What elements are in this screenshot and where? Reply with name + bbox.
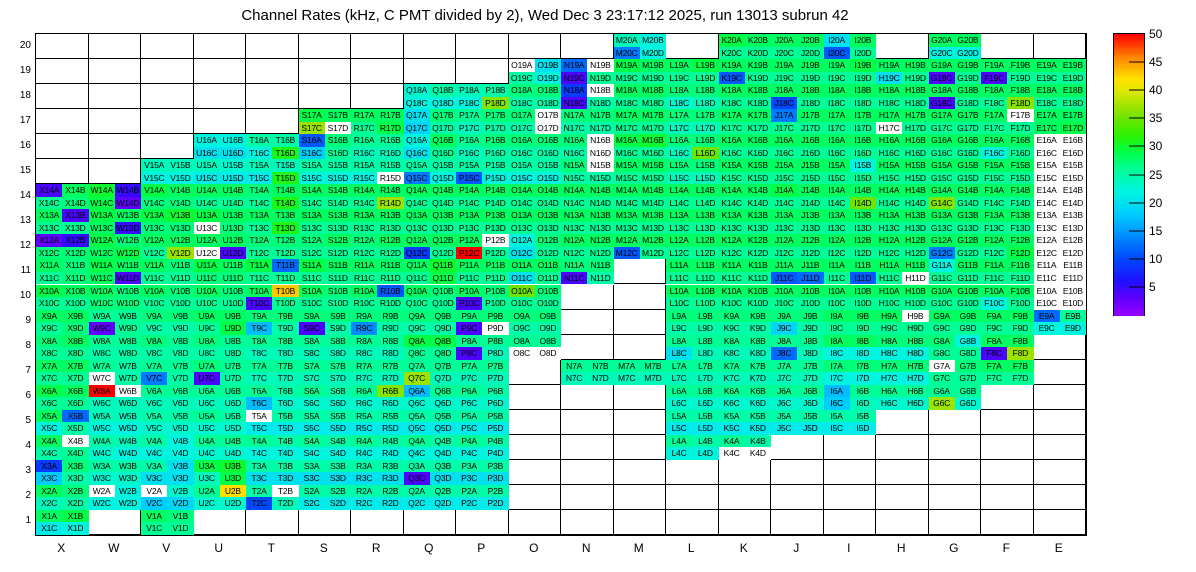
channel-cell: W10C <box>89 297 115 310</box>
channel-cell: O18C <box>509 97 535 110</box>
channel-cell: K13A <box>719 209 745 222</box>
channel-cell: E13A <box>1034 209 1060 222</box>
module-cell: U4AU4BU4CU4D <box>194 435 247 460</box>
channel-cell: N15C <box>561 172 587 185</box>
channel-cell: I17B <box>850 109 876 122</box>
channel-cell: S13C <box>299 222 325 235</box>
channel-cell: W11C <box>89 272 115 285</box>
channel-cell: M12A <box>614 234 640 247</box>
channel-cell: G20B <box>955 34 981 47</box>
module-cell <box>876 435 929 460</box>
module-cell: V9AV9BV9CV9D <box>141 310 194 335</box>
channel-cell: T15C <box>246 172 272 185</box>
channel-cell: G17B <box>955 109 981 122</box>
channel-cell: U16A <box>194 134 220 147</box>
channel-cell: H14A <box>876 184 902 197</box>
channel-cell: J17A <box>771 109 797 122</box>
module-cell: J19AJ19BJ19CJ19D <box>771 59 824 84</box>
y-axis-tick-label: 13 <box>5 215 31 226</box>
channel-cell: X11D <box>62 272 88 285</box>
channel-cell: H12D <box>902 247 928 260</box>
channel-cell: Q15D <box>430 172 456 185</box>
module-cell: P2AP2BP2CP2D <box>456 485 509 510</box>
channel-cell: R8D <box>377 347 403 360</box>
channel-cell: K16D <box>745 147 771 160</box>
module-cell <box>666 485 719 510</box>
channel-cell: R4D <box>377 447 403 460</box>
channel-cell: L5B <box>692 410 718 423</box>
channel-cell: J11B <box>797 259 823 272</box>
channel-cell: T11D <box>272 272 298 285</box>
channel-cell: L17B <box>692 109 718 122</box>
module-cell: X2AX2BX2CX2D <box>36 485 89 510</box>
channel-cell: P16A <box>456 134 482 147</box>
channel-cell: I5A <box>824 410 850 423</box>
channel-cell: F18A <box>981 84 1007 97</box>
channel-cell: U2C <box>194 497 220 510</box>
channel-cell: G15D <box>955 172 981 185</box>
channel-cell: T8B <box>272 335 298 348</box>
channel-cell: R15A <box>351 159 377 172</box>
channel-cell: X12B <box>62 234 88 247</box>
channel-cell: E13C <box>1034 222 1060 235</box>
channel-cell: Q11B <box>430 259 456 272</box>
channel-cell: S8B <box>325 335 351 348</box>
module-cell: J17AJ17BJ17CJ17D <box>771 109 824 134</box>
module-cell: L8AL8BL8CL8D <box>666 335 719 360</box>
channel-cell: E17B <box>1060 109 1086 122</box>
module-cell: H10AH10BH10CH10D <box>876 285 929 310</box>
channel-cell: L19D <box>692 72 718 85</box>
channel-cell: G18A <box>929 84 955 97</box>
channel-cell: K19D <box>745 72 771 85</box>
module-cell: M12AM12BM12CM12D <box>614 234 667 259</box>
channel-cell: J15C <box>771 172 797 185</box>
channel-cell: K8A <box>719 335 745 348</box>
channel-cell: H14B <box>902 184 928 197</box>
colorbar-tick-label: 50 <box>1149 27 1162 41</box>
channel-cell: S16D <box>325 147 351 160</box>
channel-cell: G11C <box>929 272 955 285</box>
channel-cell: G20D <box>955 47 981 60</box>
channel-cell: T15B <box>272 159 298 172</box>
channel-cell: F11C <box>981 272 1007 285</box>
module-cell <box>771 435 824 460</box>
module-cell: W13AW13BW13CW13D <box>89 209 142 234</box>
module-cell: Q14AQ14BQ14CQ14D <box>404 184 457 209</box>
channel-cell: W8C <box>89 347 115 360</box>
channel-cell: Q2B <box>430 485 456 498</box>
channel-cell: M19A <box>614 59 640 72</box>
channel-cell: T12C <box>246 247 272 260</box>
module-cell: X14AX14BX14CX14D <box>36 184 89 209</box>
module-cell <box>561 460 614 485</box>
channel-cell: Q2C <box>404 497 430 510</box>
channel-cell: N14C <box>561 197 587 210</box>
channel-cell: N15D <box>587 172 613 185</box>
channel-cell: J12C <box>771 247 797 260</box>
module-cell <box>929 460 982 485</box>
channel-cell: X7D <box>62 372 88 385</box>
channel-cell: U11B <box>220 259 246 272</box>
module-cell: E17AE17BE17CE17D <box>1034 109 1087 134</box>
module-cell: F8AF8BF8CF8D <box>981 335 1034 360</box>
channel-cell: M18C <box>614 97 640 110</box>
channel-cell: T10A <box>246 285 272 298</box>
module-cell: T15AT15BT15CT15D <box>246 159 299 184</box>
channel-cell: L14C <box>666 197 692 210</box>
channel-cell: S3B <box>325 460 351 473</box>
channel-cell: E12C <box>1034 247 1060 260</box>
channel-cell: S12C <box>299 247 325 260</box>
channel-cell: T7A <box>246 360 272 373</box>
colorbar-tick-mark <box>1129 230 1144 231</box>
channel-cell: R10C <box>351 297 377 310</box>
channel-cell: V13B <box>167 209 193 222</box>
module-cell <box>141 84 194 109</box>
module-cell: E14AE14BE14CE14D <box>1034 184 1087 209</box>
module-cell: T10AT10BT10CT10D <box>246 285 299 310</box>
module-cell: E15AE15BE15CE15D <box>1034 159 1087 184</box>
channel-cell: W14A <box>89 184 115 197</box>
channel-cell: X1D <box>62 522 88 535</box>
channel-cell: J9D <box>797 322 823 335</box>
channel-cell: P7C <box>456 372 482 385</box>
module-cell: L12AL12BL12CL12D <box>666 234 719 259</box>
channel-cell: V1B <box>167 510 193 523</box>
channel-cell: X13B <box>62 209 88 222</box>
channel-cell: O9A <box>509 310 535 323</box>
module-cell: F15AF15BF15CF15D <box>981 159 1034 184</box>
channel-cell: E13D <box>1060 222 1086 235</box>
module-cell: I12AI12BI12CI12D <box>824 234 877 259</box>
channel-cell: K18C <box>719 97 745 110</box>
module-cell: J14AJ14BJ14CJ14D <box>771 184 824 209</box>
channel-cell: K12D <box>745 247 771 260</box>
channel-cell: X14B <box>62 184 88 197</box>
module-cell: G6AG6BG6CG6D <box>929 385 982 410</box>
colorbar-tick-mark <box>1129 118 1144 119</box>
channel-cell: O11B <box>535 259 561 272</box>
channel-cell: E14B <box>1060 184 1086 197</box>
channel-cell: L17A <box>666 109 692 122</box>
channel-cell: W14C <box>89 197 115 210</box>
channel-cell: E11C <box>1034 272 1060 285</box>
channel-cell: L15C <box>666 172 692 185</box>
channel-cell: Q10A <box>404 285 430 298</box>
module-cell <box>824 485 877 510</box>
channel-cell: N14D <box>587 197 613 210</box>
channel-cell: I11C <box>824 272 850 285</box>
channel-cell: N11C <box>561 272 587 285</box>
channel-cell: K17A <box>719 109 745 122</box>
module-cell: I8AI8BI8CI8D <box>824 335 877 360</box>
channel-cell: S9D <box>325 322 351 335</box>
module-cell: K19AK19BK19CK19D <box>719 59 772 84</box>
module-cell: S14AS14BS14CS14D <box>299 184 352 209</box>
channel-cell: J9B <box>797 310 823 323</box>
channel-cell: F18D <box>1007 97 1033 110</box>
channel-cell: O12A <box>509 234 535 247</box>
channel-cell: F17D <box>1007 122 1033 135</box>
channel-cell: F8A <box>981 335 1007 348</box>
channel-cell: O11A <box>509 259 535 272</box>
module-cell: U15AU15BU15CU15D <box>194 159 247 184</box>
channel-cell: T2A <box>246 485 272 498</box>
x-axis-tick-label: E <box>1039 541 1079 555</box>
module-cell: F7AF7BF7CF7D <box>981 360 1034 385</box>
channel-cell: S11B <box>325 259 351 272</box>
x-axis-tick-label: O <box>514 541 554 555</box>
module-cell <box>404 510 457 535</box>
channel-cell: V11D <box>167 272 193 285</box>
module-cell <box>36 59 89 84</box>
channel-cell: E17C <box>1034 122 1060 135</box>
channel-cell: Q18C <box>404 97 430 110</box>
channel-cell: P9D <box>482 322 508 335</box>
channel-cell: S3A <box>299 460 325 473</box>
module-cell: T14AT14BT14CT14D <box>246 184 299 209</box>
channel-cell: W5C <box>89 422 115 435</box>
channel-cell: W13A <box>89 209 115 222</box>
channel-cell: K17C <box>719 122 745 135</box>
channel-cell: K19C <box>719 72 745 85</box>
channel-cell: I15C <box>824 172 850 185</box>
x-axis-tick-label: U <box>199 541 239 555</box>
module-cell <box>614 460 667 485</box>
channel-cell: L11A <box>666 259 692 272</box>
channel-cell: H16D <box>902 147 928 160</box>
channel-cell: L8C <box>666 347 692 360</box>
channel-cell: W3D <box>115 472 141 485</box>
module-cell: I10AI10BI10CI10D <box>824 285 877 310</box>
channel-cell: O9D <box>535 322 561 335</box>
channel-cell: V15A <box>141 159 167 172</box>
channel-cell: F9D <box>1007 322 1033 335</box>
channel-cell: K18A <box>719 84 745 97</box>
channel-cell: T4B <box>272 435 298 448</box>
channel-cell: J13C <box>771 222 797 235</box>
channel-cell: S14C <box>299 197 325 210</box>
channel-cell: X13C <box>36 222 62 235</box>
module-cell <box>771 510 824 535</box>
channel-cell: X9D <box>62 322 88 335</box>
module-cell: K13AK13BK13CK13D <box>719 209 772 234</box>
channel-cell: W2B <box>115 485 141 498</box>
channel-cell: W8D <box>115 347 141 360</box>
channel-cell: E12B <box>1060 234 1086 247</box>
channel-cell: W13B <box>115 209 141 222</box>
channel-cell: M7A <box>614 360 640 373</box>
channel-cell: R14B <box>377 184 403 197</box>
channel-cell: P8A <box>456 335 482 348</box>
channel-cell: L16D <box>692 147 718 160</box>
channel-cell: O16C <box>509 147 535 160</box>
module-cell <box>509 410 562 435</box>
module-cell: J9AJ9BJ9CJ9D <box>771 310 824 335</box>
channel-cell: H8B <box>902 335 928 348</box>
channel-cell: S17C <box>299 122 325 135</box>
channel-cell: P11B <box>482 259 508 272</box>
channel-cell: R3C <box>351 472 377 485</box>
x-axis-tick-label: S <box>304 541 344 555</box>
channel-cell: G9C <box>929 322 955 335</box>
module-cell: U16AU16BU16CU16D <box>194 134 247 159</box>
channel-cell: E19B <box>1060 59 1086 72</box>
module-cell: K15AK15BK15CK15D <box>719 159 772 184</box>
channel-cell: M15C <box>614 172 640 185</box>
channel-cell: R10A <box>351 285 377 298</box>
module-cell <box>89 159 142 184</box>
channel-cell: O9C <box>509 322 535 335</box>
channel-cell: U8D <box>220 347 246 360</box>
channel-cell: I13A <box>824 209 850 222</box>
module-cell: T8AT8BT8CT8D <box>246 335 299 360</box>
channel-cell: L12C <box>666 247 692 260</box>
channel-cell: L18D <box>692 97 718 110</box>
channel-cell: M7D <box>640 372 666 385</box>
channel-cell: T2C <box>246 497 272 510</box>
channel-cell: V2D <box>167 497 193 510</box>
channel-cell: G11A <box>929 259 955 272</box>
module-cell: L14AL14BL14CL14D <box>666 184 719 209</box>
channel-cell: S8A <box>299 335 325 348</box>
channel-cell: P3C <box>456 472 482 485</box>
channel-cell: H19D <box>902 72 928 85</box>
module-cell: P13AP13BP13CP13D <box>456 209 509 234</box>
channel-cell: M17A <box>614 109 640 122</box>
channel-cell: I9D <box>850 322 876 335</box>
channel-cell: P14B <box>482 184 508 197</box>
channel-cell: Q3D <box>430 472 456 485</box>
channel-cell: M14D <box>640 197 666 210</box>
channel-cell: R17D <box>377 122 403 135</box>
channel-cell: G13C <box>929 222 955 235</box>
module-cell: F10AF10BF10CF10D <box>981 285 1034 310</box>
module-cell: Q7AQ7BQ7CQ7D <box>404 360 457 385</box>
module-cell: S9AS9BS9CS9D <box>299 310 352 335</box>
channel-cell: L9A <box>666 310 692 323</box>
channel-cell: O17A <box>509 109 535 122</box>
channel-cell: M17D <box>640 122 666 135</box>
module-cell <box>36 109 89 134</box>
y-axis: 2019181716151413121110987654321 <box>0 33 31 536</box>
module-cell: K14AK14BK14CK14D <box>719 184 772 209</box>
channel-cell: W9C <box>89 322 115 335</box>
channel-cell: V3D <box>167 472 193 485</box>
channel-cell: F7A <box>981 360 1007 373</box>
channel-cell: P10A <box>456 285 482 298</box>
channel-cell: K20C <box>719 47 745 60</box>
channel-cell: K14D <box>745 197 771 210</box>
module-cell: O12AO12BO12CO12D <box>509 234 562 259</box>
channel-cell: F10C <box>981 297 1007 310</box>
channel-cell: F16B <box>1007 134 1033 147</box>
module-cell: S13AS13BS13CS13D <box>299 209 352 234</box>
module-cell <box>771 485 824 510</box>
channel-cell: Q8A <box>404 335 430 348</box>
colorbar-tick-mark <box>1129 146 1144 147</box>
channel-cell: H6A <box>876 385 902 398</box>
channel-cell: V14D <box>167 197 193 210</box>
channel-cell: T3B <box>272 460 298 473</box>
channel-cell: L18B <box>692 84 718 97</box>
channel-cell: H7B <box>902 360 928 373</box>
module-cell: R3AR3BR3CR3D <box>351 460 404 485</box>
channel-cell: N17C <box>561 122 587 135</box>
channel-cell: T4C <box>246 447 272 460</box>
channel-cell: G11B <box>955 259 981 272</box>
channel-cell: T14A <box>246 184 272 197</box>
x-axis-tick-label: X <box>41 541 81 555</box>
module-cell: P6AP6BP6CP6D <box>456 385 509 410</box>
channel-cell: H18A <box>876 84 902 97</box>
channel-cell: G19D <box>955 72 981 85</box>
channel-cell: M19C <box>614 72 640 85</box>
channel-cell: P11D <box>482 272 508 285</box>
channel-cell: E15B <box>1060 159 1086 172</box>
channel-cell: U2B <box>220 485 246 498</box>
channel-cell: K19B <box>745 59 771 72</box>
channel-cell: U16C <box>194 147 220 160</box>
channel-cell: Q7B <box>430 360 456 373</box>
channel-cell: H18C <box>876 97 902 110</box>
module-cell: Q15AQ15BQ15CQ15D <box>404 159 457 184</box>
channel-cell: K17B <box>745 109 771 122</box>
channel-cell: X9B <box>62 310 88 323</box>
channel-cell: K15B <box>745 159 771 172</box>
channel-cell: K7D <box>745 372 771 385</box>
module-cell: V14AV14BV14CV14D <box>141 184 194 209</box>
channel-cell: G14B <box>955 184 981 197</box>
channel-cell: S6A <box>299 385 325 398</box>
module-cell <box>404 34 457 59</box>
x-axis-tick-label: Q <box>409 541 449 555</box>
y-axis-tick-label: 9 <box>5 315 31 326</box>
channel-cell: K16C <box>719 147 745 160</box>
channel-cell: E14A <box>1034 184 1060 197</box>
channel-cell: H9C <box>876 322 902 335</box>
channel-cell: P2B <box>482 485 508 498</box>
channel-cell: E11D <box>1060 272 1086 285</box>
channel-cell: K4D <box>745 447 771 460</box>
module-cell: L7AL7BL7CL7D <box>666 360 719 385</box>
channel-cell: R7D <box>377 372 403 385</box>
module-cell: V11AV11BV11CV11D <box>141 259 194 284</box>
x-axis: XWVUTSRQPONMLKJIHGFE <box>35 541 1087 561</box>
channel-cell: X4A <box>36 435 62 448</box>
channel-cell: L12D <box>692 247 718 260</box>
channel-cell: X3A <box>36 460 62 473</box>
channel-cell: P6B <box>482 385 508 398</box>
channel-cell: Q18D <box>430 97 456 110</box>
channel-cell: M13C <box>614 222 640 235</box>
channel-cell: O10C <box>509 297 535 310</box>
module-cell: I7AI7BI7CI7D <box>824 360 877 385</box>
colorbar-tick-label: 35 <box>1149 111 1162 125</box>
module-cell: O17AO17BO17CO17D <box>509 109 562 134</box>
channel-cell: R8B <box>377 335 403 348</box>
channel-cell: S10D <box>325 297 351 310</box>
module-cell: Q12AQ12BQ12CQ12D <box>404 234 457 259</box>
channel-cell: N19A <box>561 59 587 72</box>
channel-cell: N17B <box>587 109 613 122</box>
module-cell: S12AS12BS12CS12D <box>299 234 352 259</box>
module-cell: Q9AQ9BQ9CQ9D <box>404 310 457 335</box>
channel-cell: Q17D <box>430 122 456 135</box>
module-cell <box>666 34 719 59</box>
module-cell <box>1034 360 1087 385</box>
